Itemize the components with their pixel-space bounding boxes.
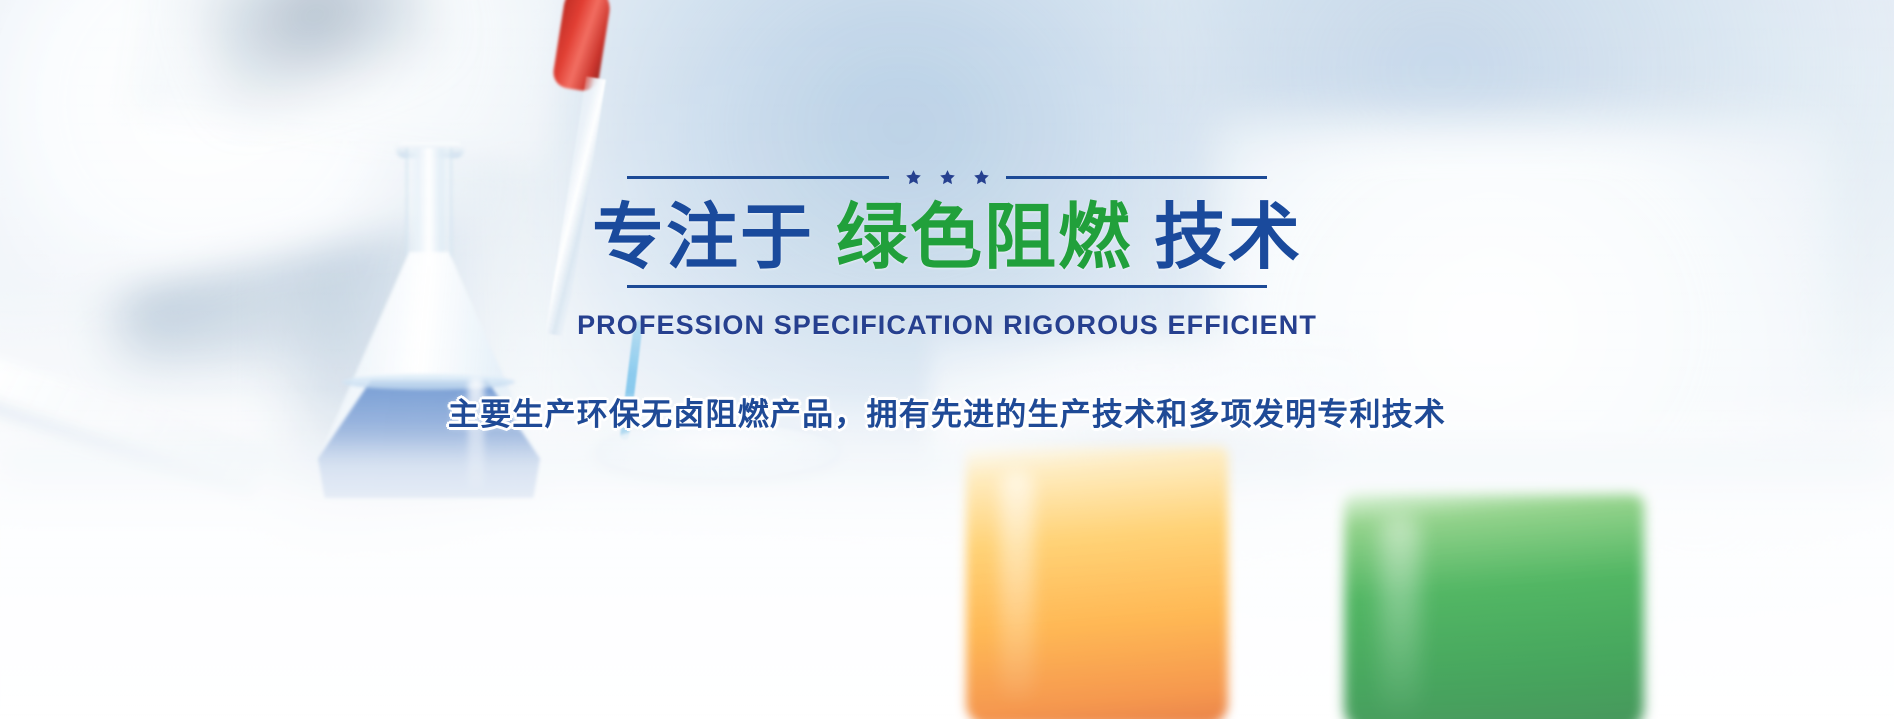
- headline-part-1: 专注于: [592, 195, 814, 279]
- headline-part-3: 技术: [1154, 195, 1302, 279]
- star-icon: [905, 169, 922, 186]
- subtitle-english: PROFESSION SPECIFICATION RIGOROUS EFFICI…: [577, 310, 1317, 341]
- headline-underline: [627, 285, 1267, 288]
- star-divider: [627, 168, 1267, 186]
- divider-line-right: [1006, 176, 1268, 179]
- star-group: [889, 169, 1006, 186]
- star-icon: [939, 169, 956, 186]
- tagline-chinese: 主要生产环保无卤阻燃产品，拥有先进的生产技术和多项发明专利技术: [448, 389, 1446, 434]
- banner-content: 专注于绿色阻燃技术 PROFESSION SPECIFICATION RIGOR…: [0, 168, 1894, 434]
- headline-part-2: 绿色阻燃: [836, 195, 1132, 279]
- hero-banner: 专注于绿色阻燃技术 PROFESSION SPECIFICATION RIGOR…: [0, 0, 1894, 719]
- divider-line-left: [627, 176, 889, 179]
- star-icon: [973, 169, 990, 186]
- page-title: 专注于绿色阻燃技术: [592, 200, 1302, 275]
